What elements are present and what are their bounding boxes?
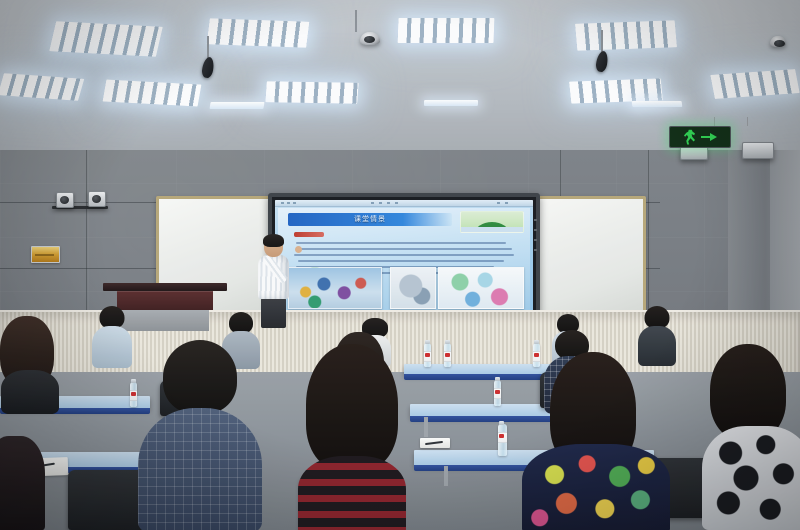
interactive-smartboard[interactable]: 课堂情景 bbox=[268, 193, 540, 325]
attendee-curly-hair-left bbox=[0, 316, 62, 412]
water-bottle bbox=[494, 380, 501, 406]
slide-text-line bbox=[296, 242, 506, 244]
attendee-blue-check-foreground bbox=[138, 340, 262, 530]
dome-security-camera bbox=[770, 36, 786, 47]
slide-text-line bbox=[298, 260, 504, 262]
board-wall: 课堂情景 bbox=[156, 196, 646, 314]
slide-thumbnail-object-gray bbox=[390, 267, 436, 309]
ceiling-panel-light bbox=[575, 20, 677, 50]
ceiling-tube-light bbox=[209, 102, 264, 109]
attendee-dark-left-edge bbox=[0, 436, 50, 530]
smartboard-button[interactable] bbox=[534, 239, 537, 241]
wall-speaker bbox=[88, 191, 106, 207]
ceiling-panel-light bbox=[0, 73, 84, 101]
smartboard-screen[interactable]: 课堂情景 bbox=[275, 200, 533, 318]
attendee-white-black-floral bbox=[700, 344, 800, 530]
attendee-floral-blouse bbox=[520, 352, 672, 530]
slide-thumbnail-classroom bbox=[288, 267, 382, 309]
notebook bbox=[420, 438, 450, 448]
classroom-scene: 课堂情景 bbox=[0, 0, 800, 530]
ceiling-panel-light bbox=[398, 18, 495, 43]
ceiling-panel-light bbox=[569, 78, 663, 103]
stage-spotlight bbox=[349, 10, 363, 32]
ceiling-tube-light bbox=[424, 100, 478, 106]
water-bottle bbox=[130, 382, 137, 407]
ceiling-tube-light bbox=[632, 101, 683, 107]
slide-text-line bbox=[296, 248, 512, 250]
smartboard-button[interactable] bbox=[534, 229, 537, 231]
green-umbrella-logo-icon bbox=[460, 211, 524, 233]
slide-thumbnail-object-colorful bbox=[438, 267, 524, 309]
smartboard-button[interactable] bbox=[534, 249, 537, 251]
presentation-toolbar bbox=[275, 200, 533, 207]
ceiling-panel-light bbox=[710, 69, 799, 99]
ceiling-panel-light bbox=[103, 79, 202, 106]
attendee-long-hair-woman-front bbox=[296, 344, 408, 530]
stage-spotlight bbox=[594, 30, 610, 72]
wall-speaker bbox=[56, 192, 74, 208]
dome-security-camera bbox=[360, 32, 380, 45]
running-man-icon bbox=[684, 130, 698, 145]
arrow-right-icon bbox=[701, 132, 717, 142]
water-bottle bbox=[424, 343, 431, 367]
wall-plaque bbox=[31, 246, 60, 263]
ceiling-panel-light bbox=[207, 18, 310, 47]
exit-sign bbox=[700, 126, 762, 148]
slide-title: 课堂情景 bbox=[288, 213, 452, 226]
water-bottle bbox=[444, 343, 451, 367]
slide-content: 课堂情景 bbox=[278, 208, 530, 314]
attendee-light-blue-shirt bbox=[92, 306, 132, 366]
water-bottle bbox=[498, 424, 507, 456]
ceiling-panel-light bbox=[49, 21, 163, 57]
slide-text-line bbox=[294, 254, 514, 256]
stage-spotlight bbox=[200, 36, 216, 78]
ceiling-panel-light bbox=[265, 81, 358, 104]
presenter-hand bbox=[295, 246, 302, 253]
smartboard-button[interactable] bbox=[534, 219, 537, 221]
whiteboard-wing-right[interactable] bbox=[522, 196, 646, 320]
